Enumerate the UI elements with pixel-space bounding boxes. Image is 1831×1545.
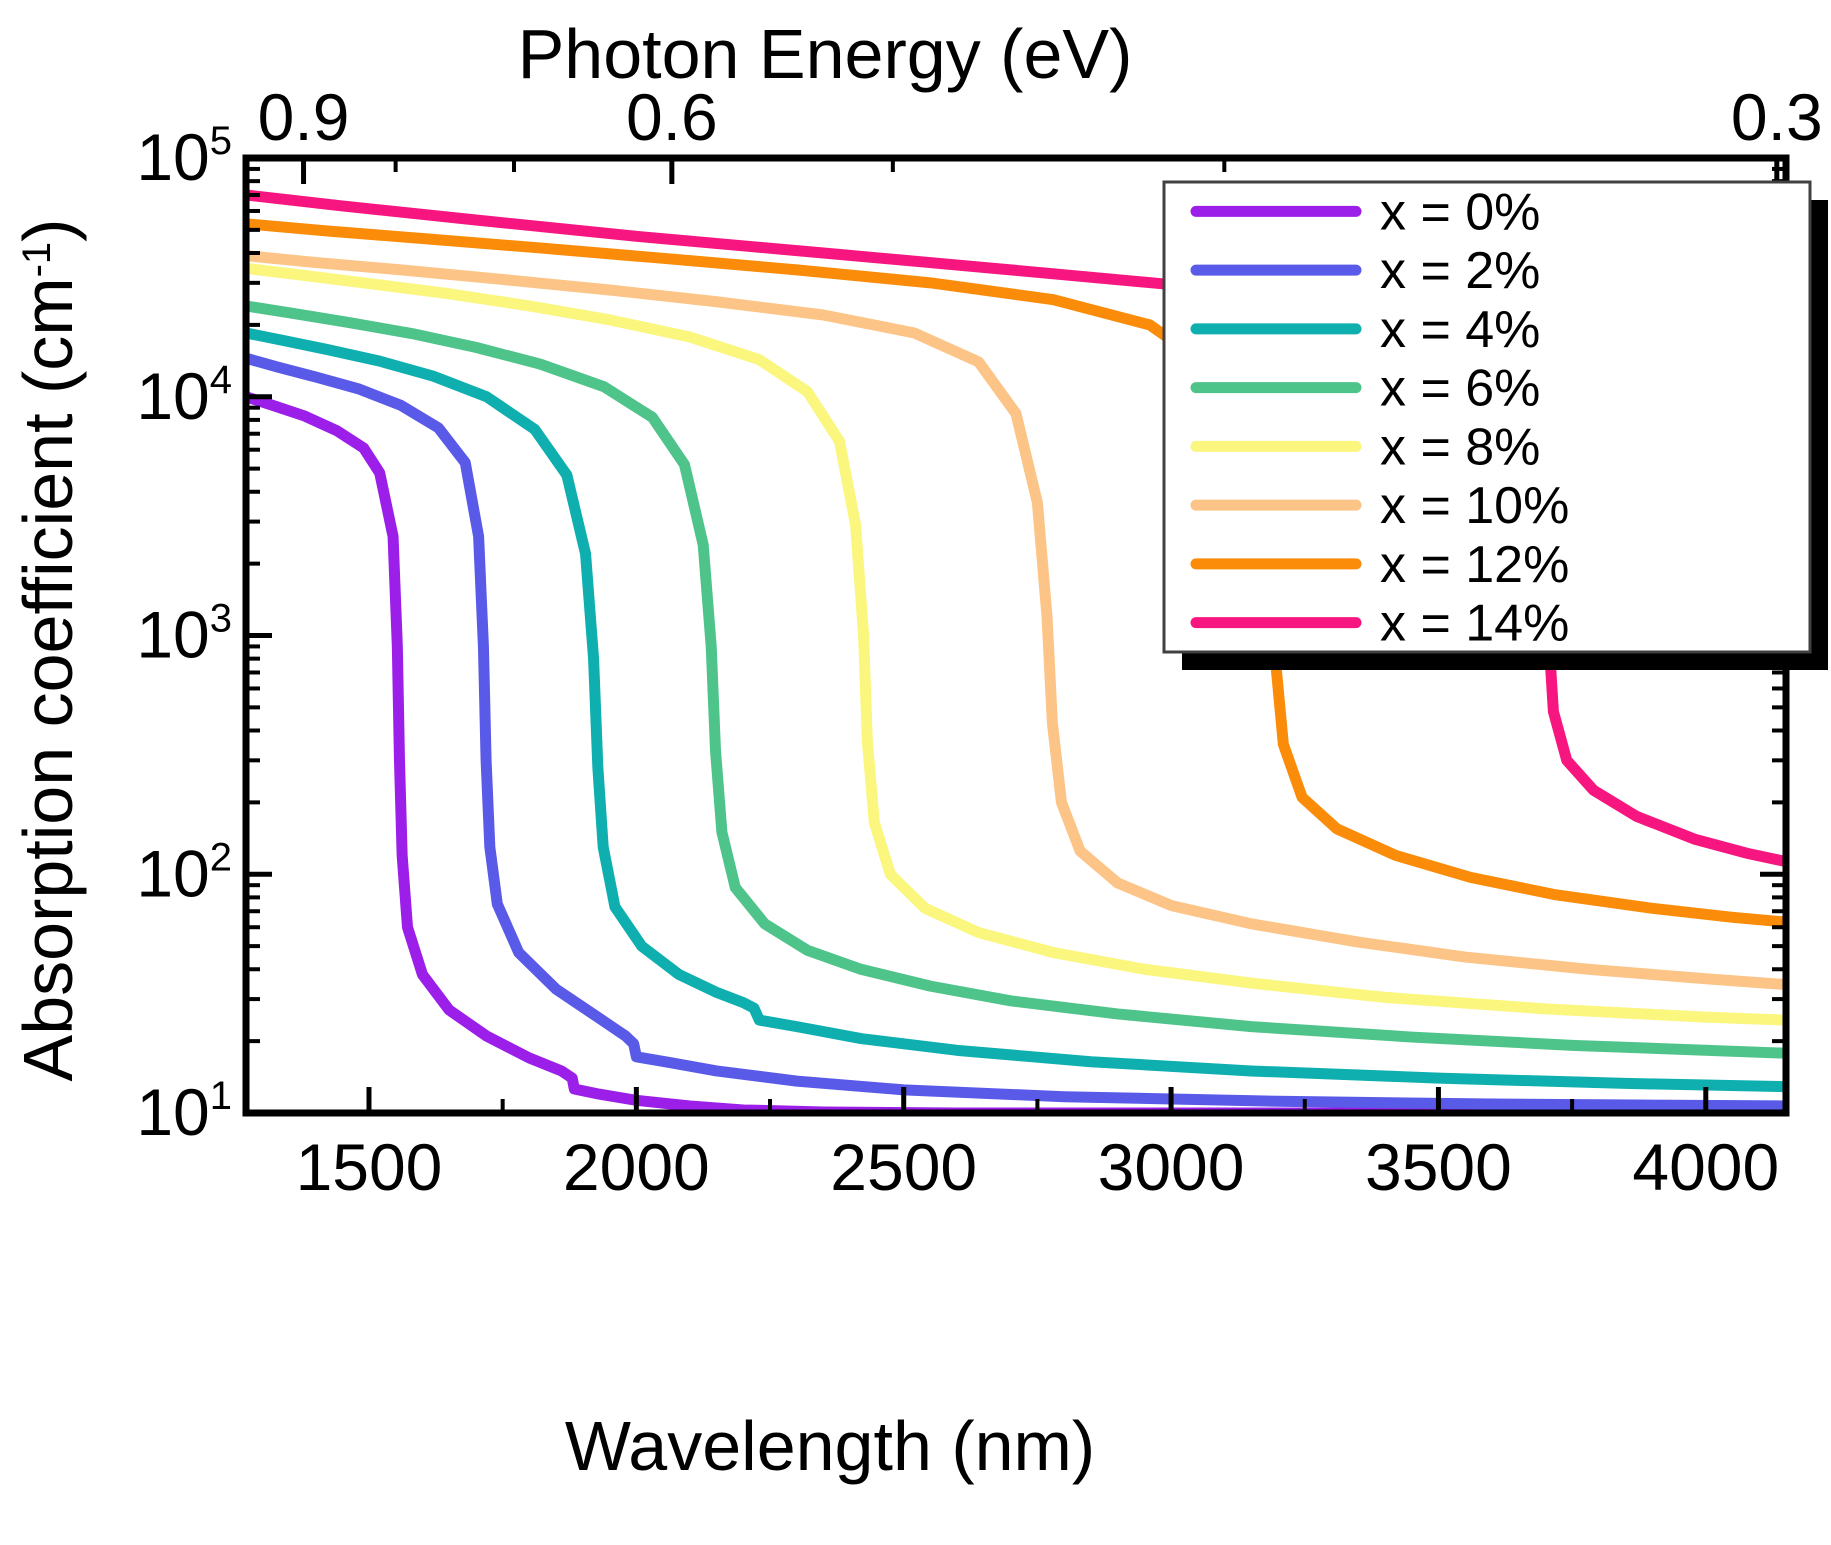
legend[interactable]: x = 0%x = 2%x = 4%x = 6%x = 8%x = 10%x =… — [1164, 182, 1828, 670]
legend-label-0-percent[interactable]: x = 0% — [1380, 183, 1540, 241]
y-axis-title-superscript: -1 — [15, 242, 59, 278]
y-tick-label: 105 — [136, 119, 232, 194]
legend-label-2-percent[interactable]: x = 2% — [1380, 242, 1540, 300]
top-tick-label: 0.3 — [1731, 80, 1823, 154]
legend-label-4-percent[interactable]: x = 4% — [1380, 301, 1540, 359]
x-axis-tick-labels: 150020002500300035004000 — [296, 1130, 1780, 1204]
absorption-coefficient-chart: Photon Energy (eV) 0.90.60.3 15002000250… — [0, 0, 1831, 1545]
figure-container: Photon Energy (eV) 0.90.60.3 15002000250… — [0, 0, 1831, 1545]
x-tick-label: 3500 — [1365, 1130, 1512, 1204]
y-tick-label: 104 — [136, 358, 232, 433]
y-tick-label: 101 — [136, 1074, 232, 1149]
x-tick-label: 2000 — [563, 1130, 710, 1204]
legend-label-10-percent[interactable]: x = 10% — [1380, 477, 1569, 535]
svg-text:Absorption coefficient (cm-1): Absorption coefficient (cm-1) — [9, 219, 87, 1082]
y-axis-title-base: Absorption coefficient (cm — [9, 277, 87, 1081]
top-tick-label: 0.9 — [258, 80, 350, 154]
y-axis-tick-labels: 105104103102101 — [136, 119, 232, 1149]
y-axis-title: Absorption coefficient (cm-1) — [9, 219, 87, 1082]
y-axis-title-close: ) — [9, 219, 87, 242]
x-tick-label: 2500 — [830, 1130, 977, 1204]
legend-label-8-percent[interactable]: x = 8% — [1380, 418, 1540, 476]
x-tick-label: 4000 — [1632, 1130, 1779, 1204]
top-axis-title: Photon Energy (eV) — [518, 15, 1133, 93]
legend-label-12-percent[interactable]: x = 12% — [1380, 536, 1569, 594]
x-tick-label: 1500 — [296, 1130, 443, 1204]
x-tick-label: 3000 — [1098, 1130, 1245, 1204]
y-tick-label: 103 — [136, 597, 232, 672]
y-tick-label: 102 — [136, 835, 232, 910]
legend-label-14-percent[interactable]: x = 14% — [1380, 595, 1569, 653]
legend-label-6-percent[interactable]: x = 6% — [1380, 360, 1540, 418]
x-axis-title: Wavelength (nm) — [565, 1407, 1095, 1485]
top-tick-label: 0.6 — [626, 80, 718, 154]
